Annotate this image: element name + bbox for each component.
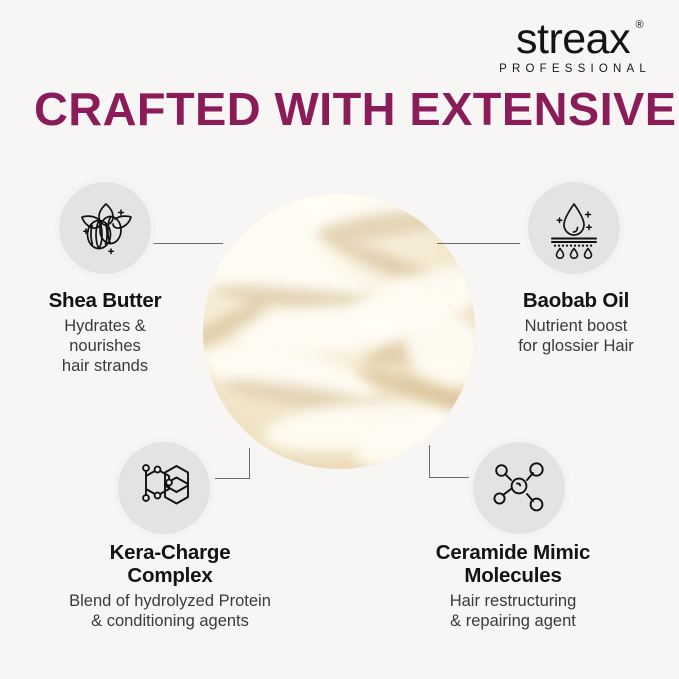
ingredient-title: Ceramide Mimic Molecules <box>372 542 654 588</box>
ingredient-title: Shea Butter <box>0 290 210 313</box>
molecule-node-icon <box>473 442 565 534</box>
ingredient-description: Hydrates & nourishes hair strands <box>0 317 210 376</box>
callout-ceramide-mimic-molecules: Ceramide Mimic Molecules Hair restructur… <box>372 542 654 632</box>
page-title: CRAFTED WITH EXTENSIVE CARE <box>34 86 658 132</box>
brand-tagline: PROFESSIONAL <box>495 64 651 76</box>
callout-kera-charge-complex: Kera-Charge Complex Blend of hydrolyzed … <box>20 542 320 632</box>
hexagon-molecule-glyph <box>134 458 194 518</box>
oil-droplet-glyph <box>543 197 605 259</box>
ingredient-title: Kera-Charge Complex <box>20 542 320 588</box>
molecule-node-glyph <box>489 458 549 518</box>
cream-texture-swatch <box>203 194 475 469</box>
brand-name-text: streax <box>516 15 630 63</box>
ingredient-description: Blend of hydrolyzed Protein & conditioni… <box>20 592 320 632</box>
oil-droplet-icon <box>528 182 620 274</box>
shea-nut-icon <box>59 182 151 274</box>
ingredient-description: Hair restructuring & repairing agent <box>372 592 654 632</box>
callout-baobab-oil: Baobab Oil Nutrient boost for glossier H… <box>470 290 679 357</box>
shea-nut-glyph <box>74 197 136 259</box>
registered-trademark-icon: ® <box>636 20 644 31</box>
hexagon-molecule-icon <box>118 442 210 534</box>
callout-shea-butter: Shea Butter Hydrates & nourishes hair st… <box>0 290 210 376</box>
brand-logo: streax ® PROFESSIONAL <box>495 18 651 76</box>
brand-name: streax ® <box>516 18 630 61</box>
ingredient-description: Nutrient boost for glossier Hair <box>470 317 679 357</box>
ingredient-title: Baobab Oil <box>470 290 679 313</box>
infographic-page: streax ® PROFESSIONAL CRAFTED WITH EXTEN… <box>0 0 679 679</box>
